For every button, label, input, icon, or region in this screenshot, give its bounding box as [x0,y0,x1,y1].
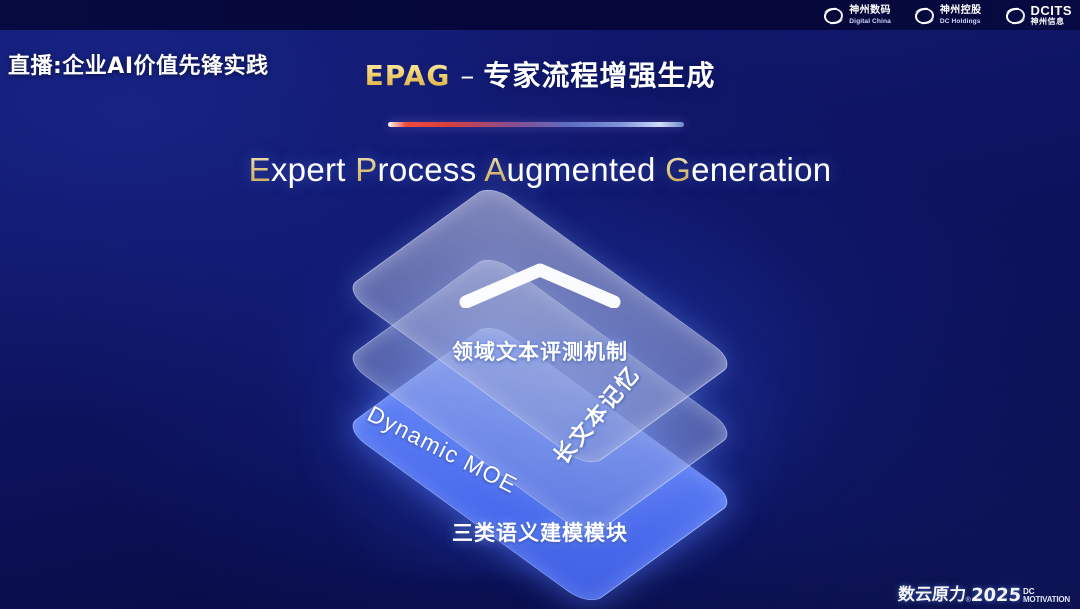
subtitle-part: eneration [691,151,831,188]
swirl-logo-icon [822,6,844,26]
subtitle-part: G [665,151,691,188]
subtitle-part: A [484,151,506,188]
partner-logos: 神州数码 Digital China 神州控股 DC Holdings DCIT… [822,4,1072,28]
subtitle-part: P [355,151,377,188]
subtitle-part: ugmented [507,151,666,188]
swirl-logo-icon [913,6,935,26]
layered-architecture-diagram: 领域文本评测机制 Dynamic MOE 长文本记忆 三类语义建模模块 [0,206,1080,596]
partner-text: 神州控股 DC Holdings [940,6,982,26]
chevron-up-icon [458,262,622,308]
layer-label-top: 领域文本评测机制 [0,336,1080,366]
subtitle-part: E [249,151,271,188]
watermark-logo: 数云原力 ® 2025 DC MOTIVATION [898,586,1070,605]
watermark-name-cn: 数云原力 [897,586,966,605]
watermark-year: 2025 [970,586,1021,605]
partner-logo-digital-china: 神州数码 Digital China [822,6,891,26]
partner-text: DCITS 神州信息 [1031,6,1073,26]
partner-text: 神州数码 Digital China [849,6,891,26]
title-chinese: 专家流程增强生成 [483,59,715,92]
partner-logo-dc-holdings: 神州控股 DC Holdings [913,6,982,26]
title-dash: – [452,59,483,92]
subtitle-part: rocess [378,151,485,188]
partner-name-en: DCITS [1031,6,1073,16]
live-stream-label: 直播:企业AI价值先锋实践 [8,48,269,80]
gradient-divider [388,122,684,127]
title-acronym: EPAG [365,59,453,92]
partner-name-cn: 神州控股 [940,6,982,16]
partner-name-cn: 神州数码 [849,6,891,16]
partner-name-en: DC Holdings [940,17,982,27]
watermark-motivation-text: MOTIVATION [1023,596,1070,604]
partner-name-en: Digital China [849,17,891,27]
presentation-slide: 数云原力 ® 2025 DC MOTIVATION 神州数码 Digital C… [0,0,1080,609]
partner-logo-dcits: DCITS 神州信息 [1004,6,1073,26]
subtitle: Expert Process Augmented Generation [0,151,1080,189]
layer-label-bottom: 三类语义建模模块 [0,517,1080,547]
swirl-logo-icon [1004,6,1026,26]
watermark-dc-motivation: DC MOTIVATION [1023,588,1070,605]
subtitle-part: xpert [271,151,355,188]
